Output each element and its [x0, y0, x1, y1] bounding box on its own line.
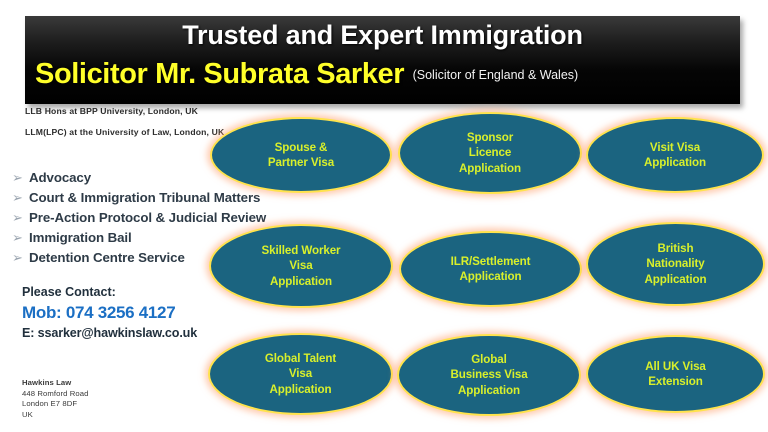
- service-oval-label: All UK VisaExtension: [629, 359, 722, 390]
- service-oval-label: BritishNationalityApplication: [628, 241, 722, 288]
- service-oval[interactable]: GlobalBusiness VisaApplication: [397, 334, 581, 416]
- service-oval-label: ILR/SettlementApplication: [435, 254, 547, 285]
- service-oval-label: Skilled WorkerVisaApplication: [246, 243, 357, 290]
- service-oval[interactable]: All UK VisaExtension: [586, 335, 765, 413]
- service-oval[interactable]: Skilled WorkerVisaApplication: [209, 224, 393, 308]
- service-oval[interactable]: Visit VisaApplication: [586, 117, 764, 193]
- service-oval-label: GlobalBusiness VisaApplication: [434, 352, 543, 399]
- service-oval[interactable]: Global TalentVisaApplication: [208, 333, 393, 415]
- service-oval[interactable]: ILR/SettlementApplication: [399, 231, 582, 307]
- service-oval-grid: Spouse &Partner VisaSponsorLicenceApplic…: [0, 0, 768, 432]
- service-oval-label: Global TalentVisaApplication: [249, 351, 352, 398]
- service-oval-label: SponsorLicenceApplication: [443, 130, 537, 177]
- service-oval[interactable]: SponsorLicenceApplication: [398, 112, 582, 194]
- service-oval-label: Visit VisaApplication: [628, 140, 722, 171]
- service-oval-label: Spouse &Partner Visa: [252, 140, 350, 171]
- service-oval[interactable]: BritishNationalityApplication: [586, 222, 765, 306]
- service-oval[interactable]: Spouse &Partner Visa: [210, 117, 392, 193]
